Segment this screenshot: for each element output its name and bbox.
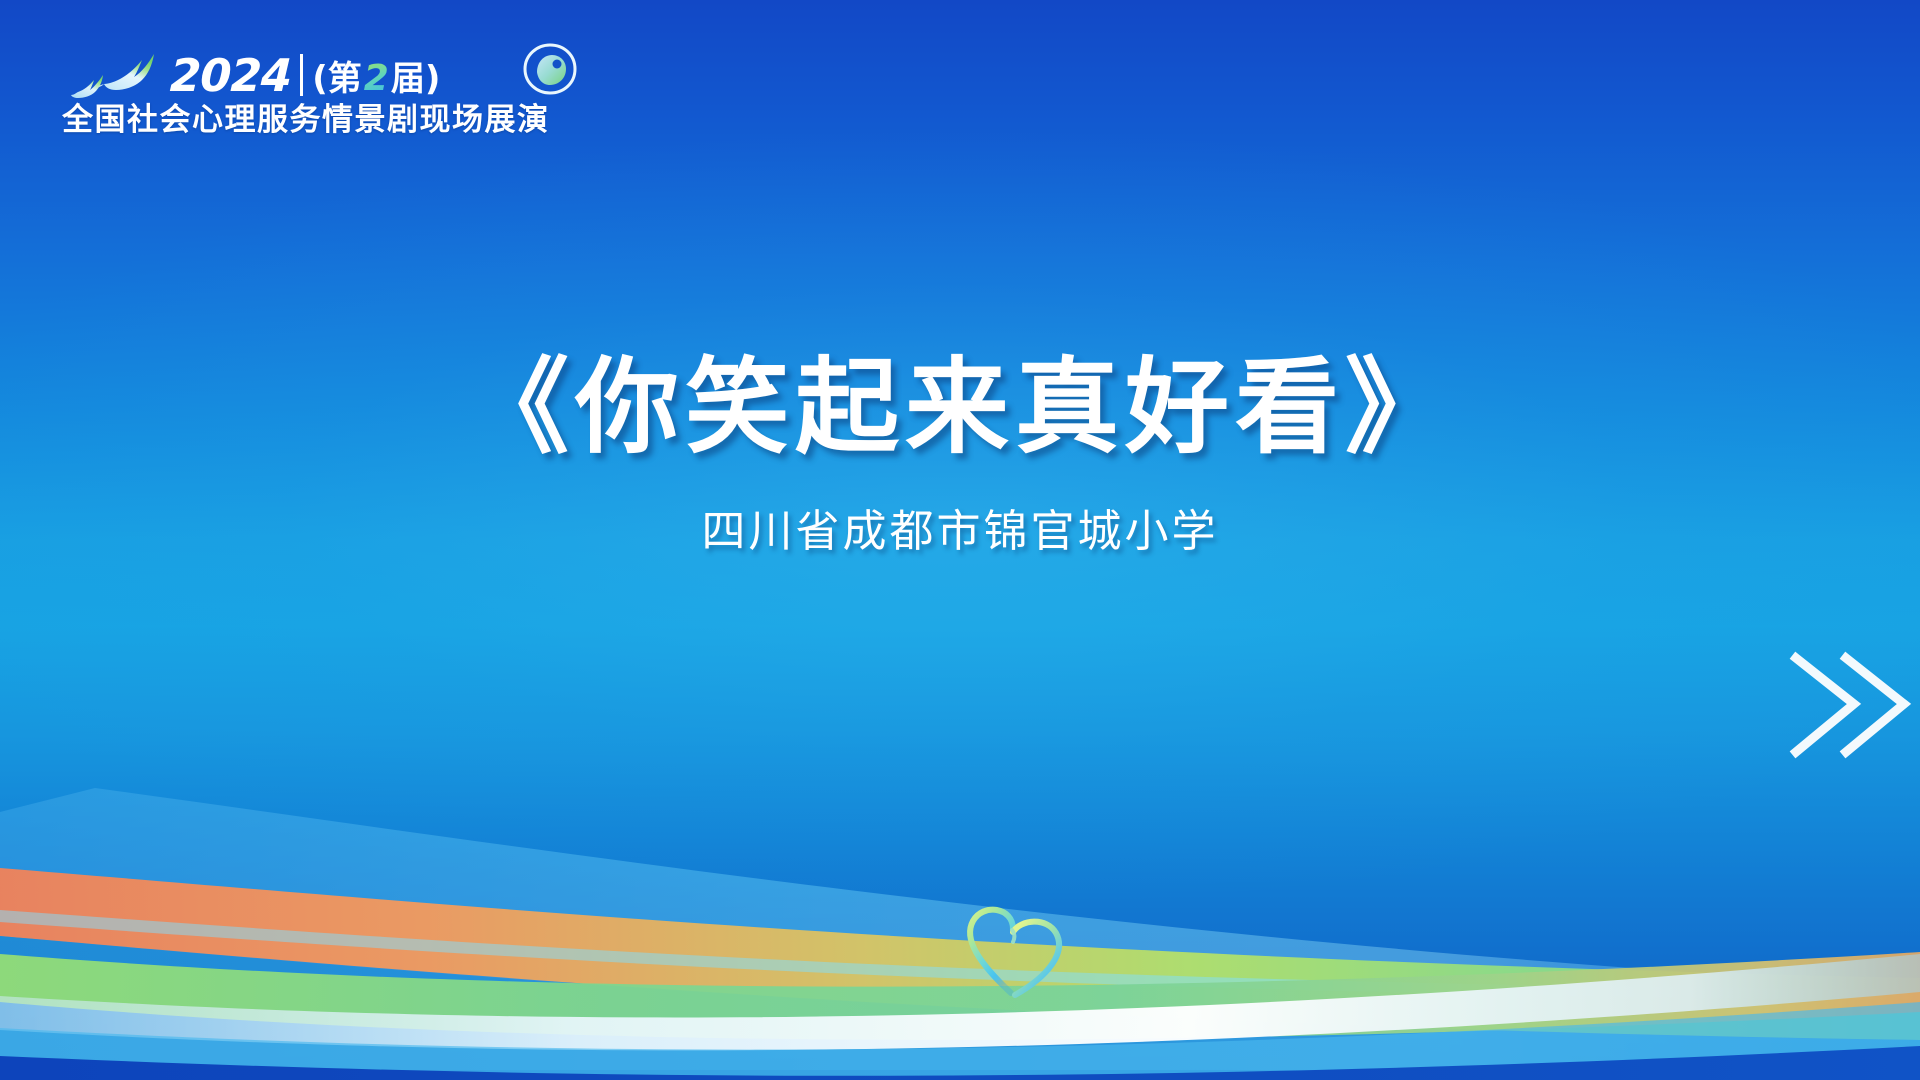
edition-suffix: 届): [391, 60, 441, 98]
event-logo-line1: 2024 (第2届): [170, 42, 440, 98]
edition-prefix: (第: [312, 60, 362, 98]
dove-icon: [62, 46, 172, 100]
logo-divider: [300, 54, 303, 96]
page-subtitle: 四川省成都市锦官城小学: [0, 506, 1920, 559]
event-year: 2024: [169, 53, 292, 98]
event-edition: (第2届): [312, 60, 440, 98]
heart-notch: [1012, 930, 1014, 942]
double-chevron-icon: [1780, 640, 1920, 770]
event-logo: 2024 (第2届) 全国社会心理服务情景剧现场展演: [62, 42, 622, 152]
circle-emblem-icon: [517, 42, 579, 96]
title-block: 《你笑起来真好看》 四川省成都市锦官城小学: [0, 352, 1920, 559]
double-heart-icon: [955, 885, 1085, 1005]
page-title: 《你笑起来真好看》: [0, 352, 1920, 466]
slide-canvas: 2024 (第2届) 全国社会心理服务情景剧现场展演 《你笑起来真好看》 四川省…: [0, 0, 1920, 1080]
event-name: 全国社会心理服务情景剧现场展演: [62, 94, 550, 139]
heart-left-lobe: [970, 910, 1013, 993]
edition-number: 2: [362, 60, 391, 98]
heart-right-lobe: [1013, 922, 1059, 995]
